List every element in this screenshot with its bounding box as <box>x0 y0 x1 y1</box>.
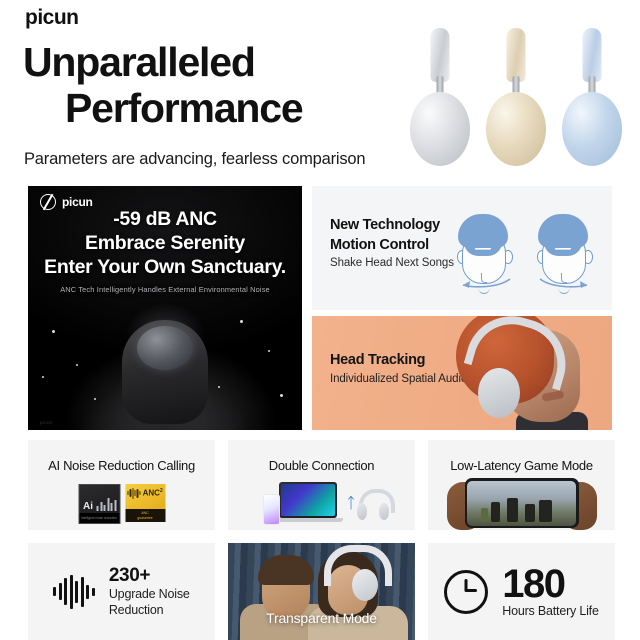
ear-cup <box>562 92 622 166</box>
water-droplet <box>52 330 55 333</box>
water-droplet <box>76 364 78 366</box>
headphone-colorway-champagne <box>484 22 548 172</box>
head-tracking-panel[interactable]: Head Tracking Individualized Spatial Aud… <box>312 316 612 430</box>
anc-panel-watermark: picun <box>40 420 53 425</box>
gaming-phone <box>465 478 579 528</box>
battery-life-stat-text: 180 Hours Battery Life <box>502 564 598 620</box>
ai-chip-label: Ai <box>83 501 93 512</box>
page-subheadline: Parameters are advancing, fearless compa… <box>24 150 365 169</box>
motion-title-line-2: Motion Control <box>330 237 454 253</box>
water-droplet <box>42 376 44 378</box>
ai-noise-reduction-title: AI Noise Reduction Calling <box>28 458 215 473</box>
bluetooth-icon: ᛏ <box>347 496 356 511</box>
ear-cup-left <box>357 503 367 520</box>
anc-chip-superscript: 2 <box>160 488 163 494</box>
model-ear-cup <box>137 326 193 370</box>
laptop-icon <box>279 482 337 518</box>
chip-badges: Ai Intelligent noise reduction ANC2 ANC … <box>78 484 165 524</box>
hair <box>458 214 508 248</box>
brand-logo: picun <box>25 6 79 30</box>
headphone-ear-cup <box>478 368 520 418</box>
motion-control-copy: New Technology Motion Control Shake Head… <box>330 217 454 269</box>
headphone-colorway-silver <box>408 22 472 172</box>
hero-headphone-colorways <box>400 22 632 174</box>
clock-icon <box>444 570 488 614</box>
ear-cup <box>410 92 470 166</box>
ai-chip-subtext: Intelligent noise reduction <box>79 513 119 523</box>
motion-control-illustration <box>454 210 596 292</box>
anc-panel-copy: -59 dB ANC Embrace Serenity Enter Your O… <box>28 208 302 294</box>
page-header: picun Unparalleled Performance Parameter… <box>0 0 640 178</box>
laptop-screen <box>281 484 335 516</box>
double-connection-illustration: ᛏ <box>257 480 387 528</box>
anc-chip-label-text: ANC <box>143 489 160 498</box>
noise-reduction-label-line-2: Reduction <box>109 603 190 619</box>
headphone-colorway-sky-blue <box>560 22 624 172</box>
anc-chip-top: ANC2 <box>125 487 165 499</box>
game-character <box>507 498 518 522</box>
boy-hair <box>258 555 314 585</box>
head-shake-left-icon <box>454 210 516 292</box>
water-droplet <box>280 394 283 397</box>
noise-reduction-stat: 230+ Upgrade Noise Reduction <box>28 543 215 640</box>
motion-subtitle: Shake Head Next Songs <box>330 257 454 269</box>
battery-life-value: 180 <box>502 564 598 604</box>
anc-headline-1: -59 dB ANC <box>28 208 302 231</box>
headband <box>507 28 526 82</box>
water-droplet <box>240 320 243 323</box>
transparent-mode-card[interactable]: Transparent Mode <box>228 543 415 640</box>
arrow-right-icon <box>538 276 592 290</box>
anc-headline-2: Embrace Serenity <box>28 232 302 255</box>
crown-knob <box>418 166 426 173</box>
arrow-left-icon <box>458 276 512 290</box>
waveform-icon <box>53 575 95 609</box>
ear-cup <box>486 92 546 166</box>
head-tracking-photo <box>442 316 612 430</box>
double-connection-title: Double Connection <box>228 458 415 473</box>
noise-reduction-value: 230+ <box>109 565 150 586</box>
ai-noise-reduction-card[interactable]: AI Noise Reduction Calling Ai Intelligen… <box>28 440 215 530</box>
anc-chip-subtext: ANC guarantee <box>125 509 165 522</box>
water-droplet <box>218 386 220 388</box>
hair <box>538 214 588 248</box>
headband <box>431 28 450 82</box>
ear-cup-right <box>379 503 389 520</box>
headline-line-1: Unparalleled <box>23 39 255 85</box>
model-silhouette <box>122 320 208 424</box>
anc-chip-subtext-line-2: guarantee <box>137 516 152 520</box>
crown-knob <box>494 166 502 173</box>
anc-chip-badge: ANC2 ANC guarantee <box>125 484 165 522</box>
water-droplet <box>268 350 270 352</box>
anc-panel-logo-text: picun <box>62 195 93 209</box>
anc-chip-label: ANC2 <box>143 488 163 498</box>
game-mode-card[interactable]: Low-Latency Game Mode <box>428 440 615 530</box>
game-character <box>525 504 535 522</box>
headphone-ear-cup <box>352 569 378 601</box>
anc-hero-panel[interactable]: picun -59 dB ANC Embrace Serenity Enter … <box>28 186 302 430</box>
anc-model-photo <box>28 290 302 430</box>
noise-reduction-label-line-1: Upgrade Noise <box>109 587 190 603</box>
page-headline: Unparalleled Performance <box>23 40 403 132</box>
double-connection-card[interactable]: Double Connection ᛏ <box>228 440 415 530</box>
ai-chip-bars-icon <box>97 497 117 511</box>
head-shake-right-icon <box>534 210 596 292</box>
laptop-base <box>273 518 343 522</box>
battery-life-label: Hours Battery Life <box>502 604 598 620</box>
headphones-icon <box>357 489 389 521</box>
phone-icon <box>263 494 280 525</box>
game-mode-title: Low-Latency Game Mode <box>428 458 615 473</box>
anc-waveform-icon <box>127 487 140 499</box>
motion-control-panel[interactable]: New Technology Motion Control Shake Head… <box>312 186 612 310</box>
game-foliage <box>481 508 488 522</box>
game-mode-illustration <box>447 476 597 530</box>
crown-knob <box>570 166 578 173</box>
motion-title-line-1: New Technology <box>330 217 454 233</box>
game-character <box>539 500 552 522</box>
noise-reduction-stat-text: 230+ Upgrade Noise Reduction <box>109 565 190 618</box>
headline-line-2: Performance <box>23 86 403 132</box>
noise-reduction-stat-card[interactable]: 230+ Upgrade Noise Reduction <box>28 543 215 640</box>
phone-screen <box>264 495 279 524</box>
water-droplet <box>94 398 96 400</box>
game-character <box>491 502 500 522</box>
headband <box>583 28 602 82</box>
transparent-mode-caption: Transparent Mode <box>228 610 415 626</box>
ai-chip-badge: Ai Intelligent noise reduction <box>78 484 120 524</box>
battery-life-stat: 180 Hours Battery Life <box>428 543 615 640</box>
game-screen <box>467 481 576 526</box>
battery-life-stat-card[interactable]: 180 Hours Battery Life <box>428 543 615 640</box>
anc-headline-3: Enter Your Own Sanctuary. <box>28 256 302 279</box>
